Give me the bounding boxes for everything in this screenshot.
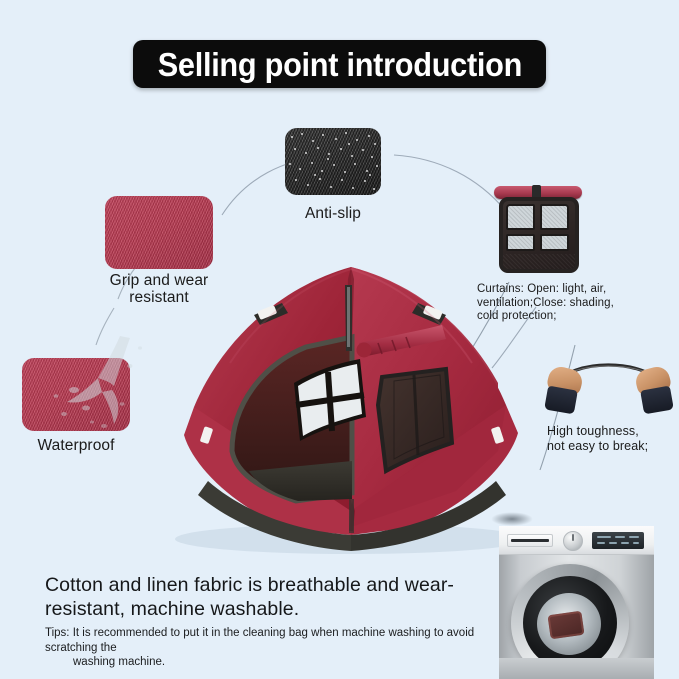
label-anti-slip: Anti-slip xyxy=(283,205,383,222)
swatch-waterproof xyxy=(22,358,130,431)
label-waterproof: Waterproof xyxy=(24,437,128,454)
bottom-headline: Cotton and linen fabric is breathable an… xyxy=(45,573,475,621)
tips-line1: Tips: It is recommended to put it in the… xyxy=(45,627,474,654)
label-high-toughness: High toughness, not easy to break; xyxy=(547,424,677,454)
washer-door-glass xyxy=(523,576,617,670)
hand-right-icon xyxy=(632,368,672,402)
washer-display xyxy=(592,532,644,549)
label-toughness-line1: High toughness, xyxy=(547,424,677,439)
washer-base xyxy=(499,658,654,679)
swatch-anti-slip xyxy=(285,128,381,195)
washer-drum xyxy=(537,593,601,655)
bottom-tips: Tips: It is recommended to put it in the… xyxy=(45,626,485,670)
infographic-page: Selling point introduction Grip and wear… xyxy=(0,0,679,679)
detergent-drawer xyxy=(507,534,553,547)
swatch-high-toughness xyxy=(543,352,675,422)
washing-machine xyxy=(489,508,669,679)
label-toughness-line2: not easy to break; xyxy=(547,439,677,454)
page-title: Selling point introduction xyxy=(157,48,521,81)
program-dial xyxy=(563,531,583,551)
title-banner: Selling point introduction xyxy=(133,40,546,88)
tent-in-drum-detail xyxy=(547,611,584,639)
washer-shadow xyxy=(491,512,533,526)
tips-line2: washing machine. xyxy=(45,655,485,670)
speckle-texture xyxy=(285,128,381,195)
